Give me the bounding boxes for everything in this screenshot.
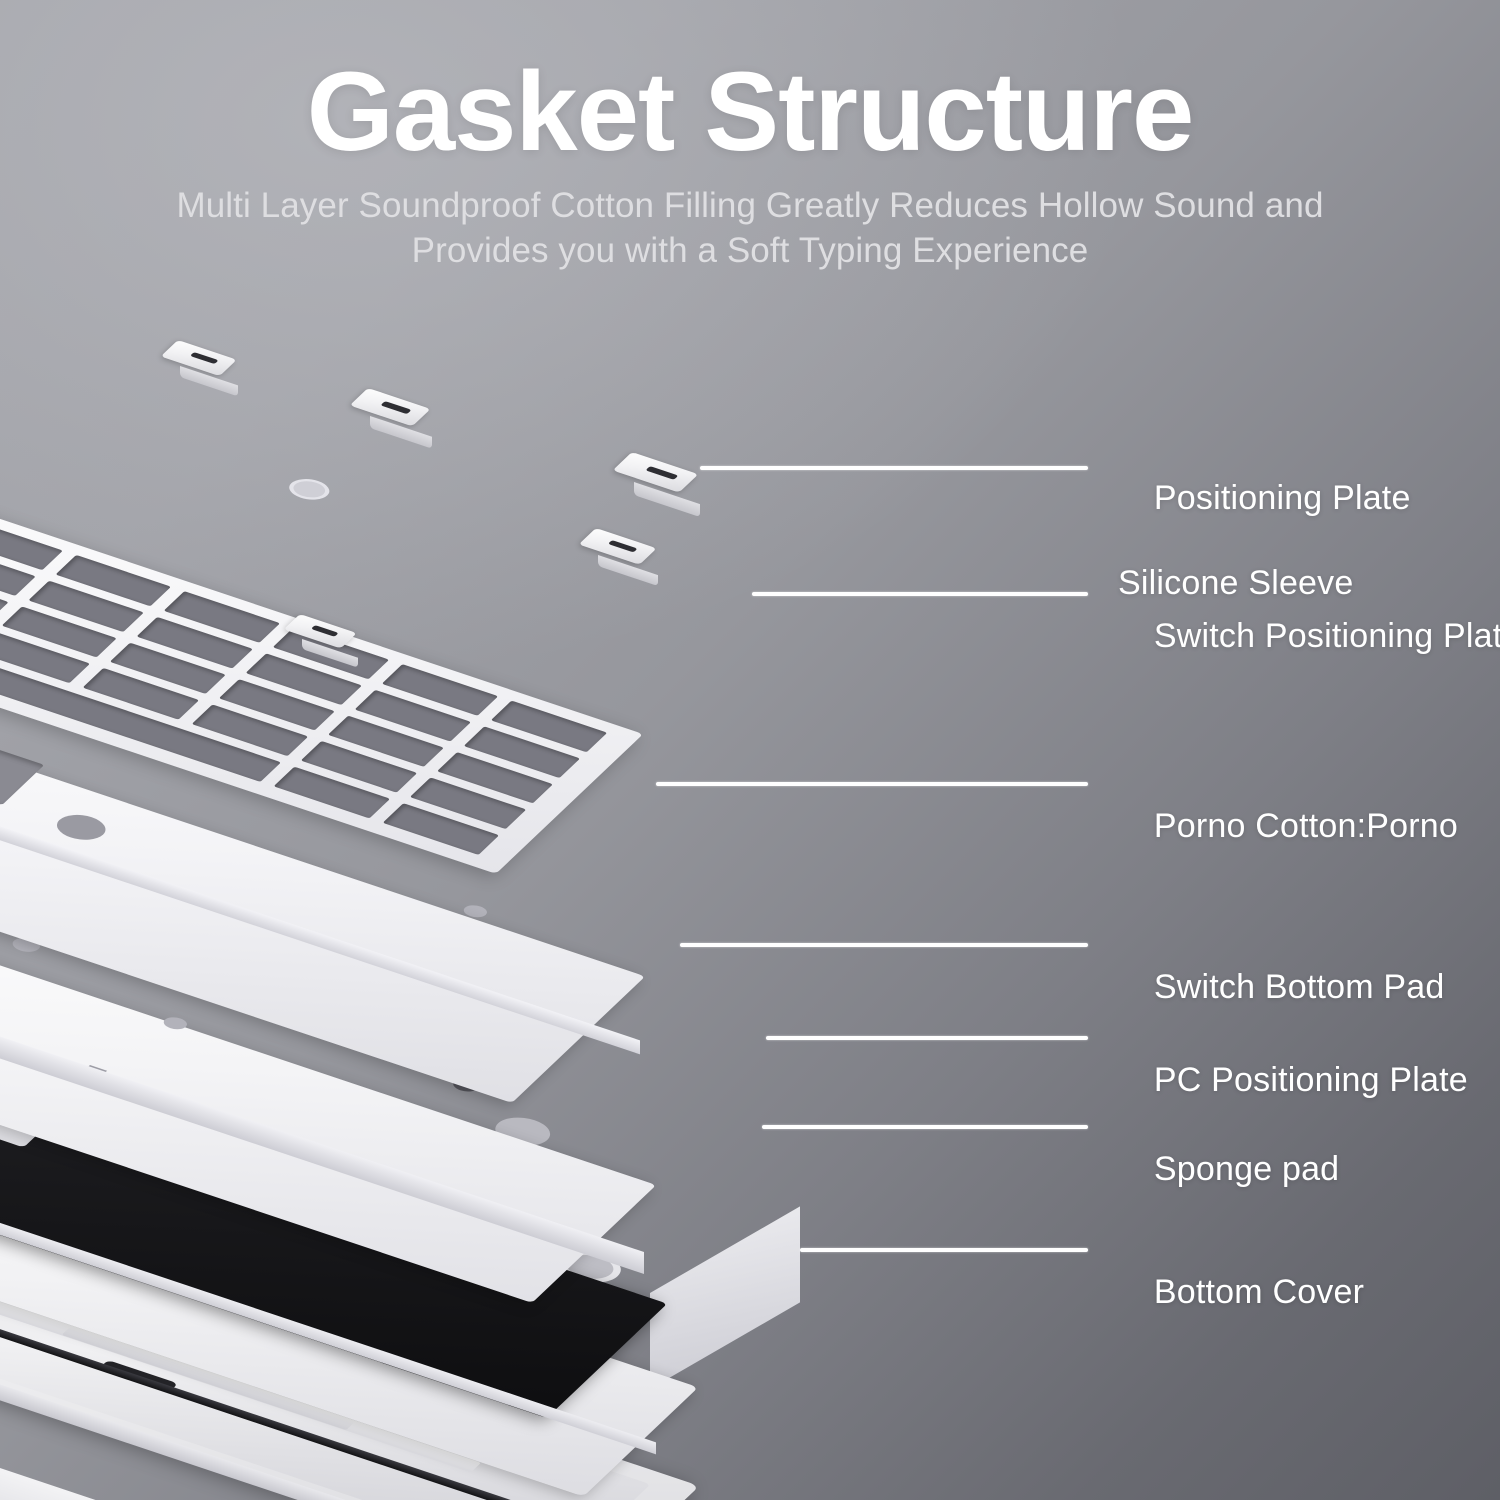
silicone-sleeve-part-5 <box>300 614 360 646</box>
callout-label: Porno Cotton:Porno <box>1096 762 1458 890</box>
subtitle-line-1: Multi Layer Soundproof Cotton Filling Gr… <box>125 184 1375 229</box>
layer-switch-positioning-plate <box>0 385 780 785</box>
page-subtitle: Multi Layer Soundproof Cotton Filling Gr… <box>125 184 1375 274</box>
silicone-sleeve-part-3 <box>632 452 702 490</box>
leader-line <box>656 782 1088 786</box>
leader-line <box>752 592 1088 596</box>
leader-line <box>700 466 1088 470</box>
callout-label-line-1: Porno Cotton:Porno <box>1154 807 1458 845</box>
leader-line <box>680 943 1088 947</box>
infographic-canvas: Gasket Structure Multi Layer Soundproof … <box>0 0 1500 1500</box>
silicone-sleeve-part-2 <box>368 388 434 424</box>
callout-label-line-1: Sponge pad <box>1154 1150 1339 1188</box>
leader-line <box>800 1248 1088 1252</box>
page-title: Gasket Structure <box>0 0 1500 168</box>
callout-label-line-1: Switch Bottom Pad <box>1154 968 1445 1006</box>
subtitle-line-2: Provides you with a Soft Typing Experien… <box>125 229 1375 274</box>
callout-label-line-1: Bottom Cover <box>1154 1273 1364 1311</box>
silicone-sleeve-part-1 <box>178 340 240 374</box>
header: Gasket Structure Multi Layer Soundproof … <box>0 0 1500 274</box>
callout-label: Bottom Cover <box>1096 1228 1364 1356</box>
callout-label-line-1: Switch Positioning Plate <box>1154 617 1500 655</box>
leader-line <box>762 1125 1088 1129</box>
leader-line <box>766 1036 1088 1040</box>
callout-label-line-1: Positioning Plate <box>1154 479 1411 517</box>
callout-label: Switch Positioning Plate <box>1096 572 1500 700</box>
callout-label: Sponge pad <box>1096 1105 1339 1233</box>
callout-label-line-1: PC Positioning Plate <box>1154 1061 1468 1099</box>
silicone-sleeve-part-4 <box>596 528 660 562</box>
